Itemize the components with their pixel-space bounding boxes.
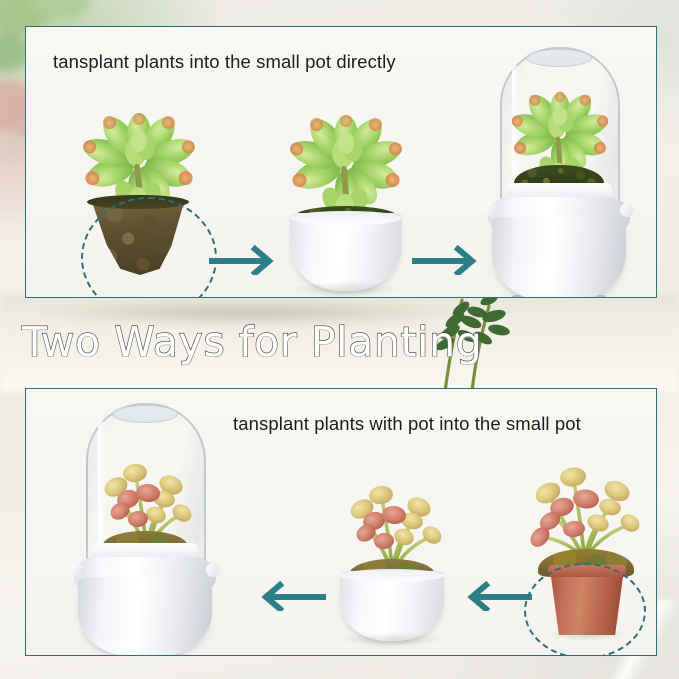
white-inner-pot-rim [290,211,402,225]
base-rim-petal-right [206,563,220,577]
base-foot-right [596,295,606,298]
venus-flytrap-plant [518,451,654,563]
base-rim-petal-left [484,203,498,217]
pot-drop-shadow [340,633,444,646]
base-rim-petal-right [620,203,634,217]
panel-method-one: tansplant plants into the small pot dire… [25,26,657,298]
caption-method-two: tansplant plants with pot into the small… [233,413,581,435]
step-succulent-in-white-pot [276,89,416,289]
highlight-dashed-circle-nursery-pot [524,563,646,656]
terrarium-base-body [78,577,212,656]
step-flytrap-in-white-pot [326,467,458,647]
white-inner-pot-rim [340,569,444,582]
step-succulent-in-terrarium [468,31,648,298]
arrow-step1-to-step2 [209,245,281,275]
page-title: Two Ways for Planting [22,316,482,368]
panel-method-two: tansplant plants with pot into the small… [25,388,657,656]
terrarium-base-body [492,217,626,298]
arrow-step2-to-step1 [254,581,326,611]
step-flytrap-in-terrarium [54,391,234,653]
glass-dome-top-cap [112,405,178,423]
caption-method-one: tansplant plants into the small pot dire… [53,51,396,73]
base-foot-left [512,295,522,298]
base-rim-petal-left [70,563,84,577]
pot-drop-shadow [290,282,402,296]
glass-dome-top-cap [526,49,592,67]
infographic-canvas: tansplant plants into the small pot dire… [0,0,679,679]
